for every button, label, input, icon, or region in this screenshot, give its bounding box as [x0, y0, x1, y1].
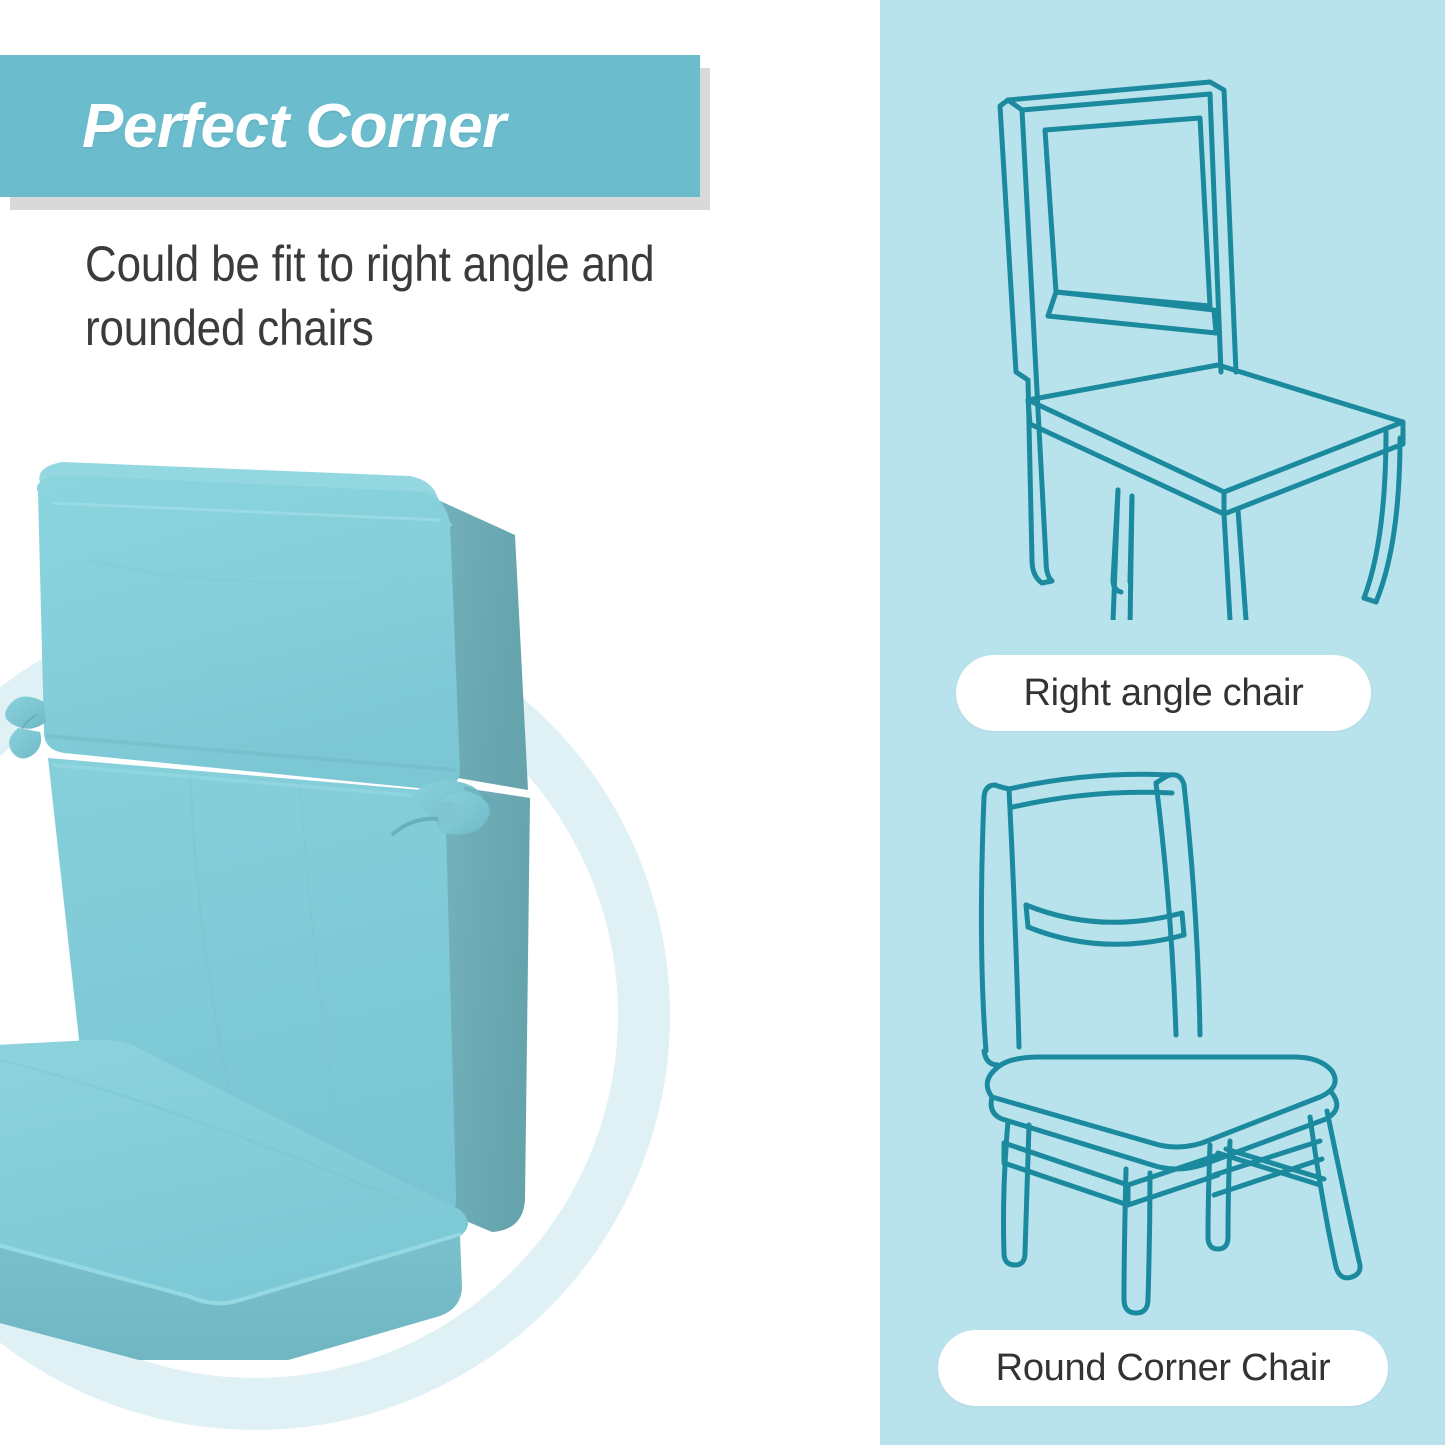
round-corner-chair-illustration: [880, 745, 1445, 1325]
cushion-back-upper: [37, 462, 528, 790]
right-angle-chair-label: Right angle chair: [956, 655, 1371, 731]
title-banner: Perfect Corner: [0, 55, 700, 197]
cushion-tie-left: [5, 696, 46, 758]
round-corner-chair-label: Round Corner Chair: [938, 1330, 1388, 1406]
product-photo-cushion: [0, 440, 640, 1360]
right-angle-chair-illustration: [880, 20, 1445, 620]
page-title: Perfect Corner: [0, 91, 506, 162]
subheading-text: Could be fit to right angle and rounded …: [85, 232, 754, 360]
right-panel: Right angle chair: [880, 0, 1445, 1445]
infographic-page: Perfect Corner Could be fit to right ang…: [0, 0, 1445, 1445]
left-panel: Perfect Corner Could be fit to right ang…: [0, 0, 880, 1445]
